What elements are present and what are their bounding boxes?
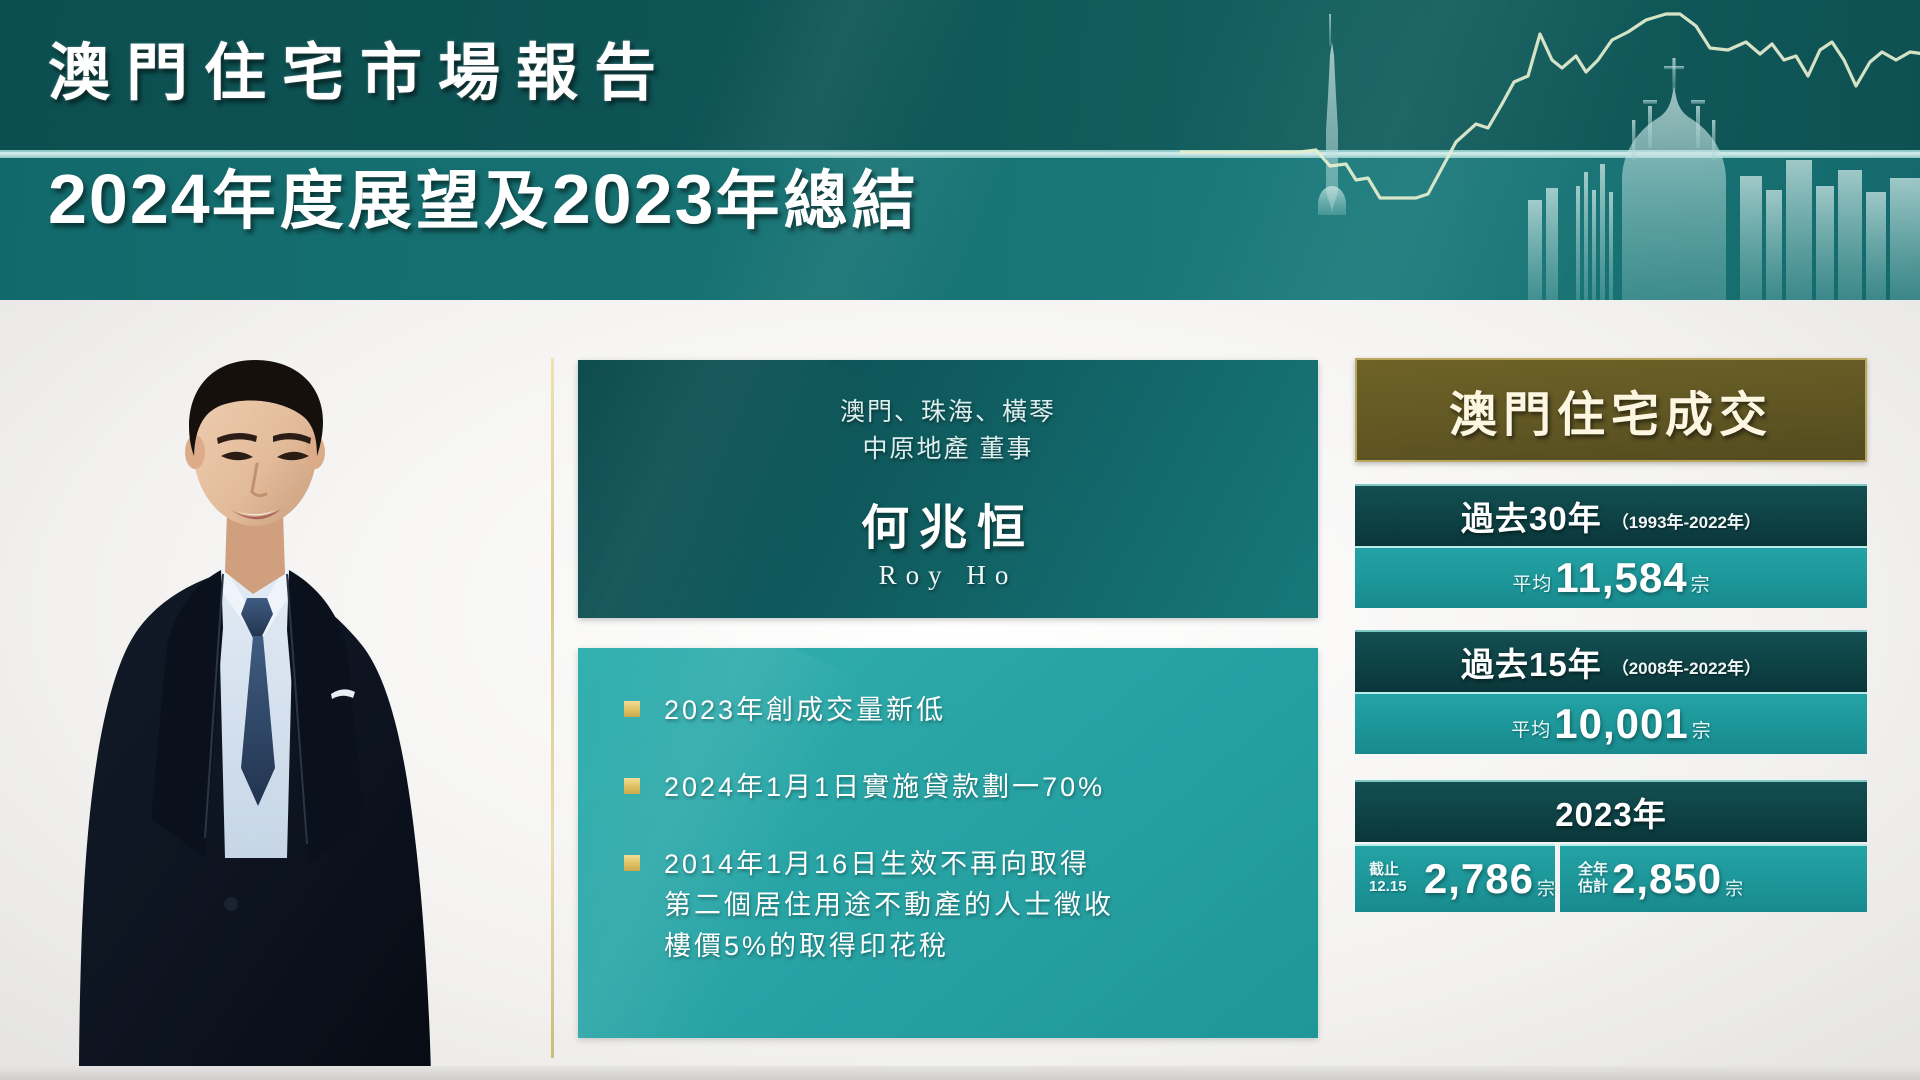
stat-block-30y-value: 平均 11,584 宗 xyxy=(1355,546,1867,608)
stage-bottom-edge xyxy=(0,1066,1920,1080)
header-banner: 澳門住宅市場報告 2024年度展望及2023年總結 xyxy=(0,0,1920,300)
stat-block-30y-header: 過去30年 （1993年-2022年） xyxy=(1355,484,1867,546)
stat-value: 11,584 xyxy=(1555,554,1687,602)
header-artwork xyxy=(1180,0,1920,300)
stats-panel-heading: 澳門住宅成交 xyxy=(1355,358,1867,462)
stat-caption: 全年 估計 xyxy=(1578,862,1608,896)
list-item: 2014年1月16日生效不再向取得 第二個居住用途不動產的人士徵收 樓價5%的取… xyxy=(624,844,1284,967)
list-item: 2024年1月1日實施貸款劃一70% xyxy=(624,767,1284,808)
stat-cell-full-year-estimate: 全年 估計 2,850 宗 xyxy=(1560,844,1867,912)
stat-block-2023-values: 截止12.15 2,786 宗 全年 估計 2,850 宗 xyxy=(1355,844,1867,912)
stat-value-prefix: 平均 xyxy=(1511,715,1551,742)
page-subtitle: 2024年度展望及2023年總結 xyxy=(48,150,919,242)
stats-panel-heading-text: 澳門住宅成交 xyxy=(1449,375,1773,445)
ruins-of-st-pauls-icon xyxy=(1622,58,1726,300)
stat-value: 2,786 xyxy=(1424,855,1534,903)
subtitle-year-2024: 2024 xyxy=(48,160,212,238)
avatar xyxy=(55,298,455,1080)
stat-block-15y-header: 過去15年 （2008年-2022年） xyxy=(1355,630,1867,692)
list-item-text: 2023年創成交量新低 xyxy=(664,690,946,731)
stat-range: （1993年-2022年） xyxy=(1612,508,1761,533)
stat-cell-ytd: 截止12.15 2,786 宗 xyxy=(1355,844,1555,912)
content-stage: 澳門、珠海、橫琴 中原地產 董事 何兆恒 Roy Ho 2023年創成交量新低 … xyxy=(0,300,1920,1080)
bullet-list-card: 2023年創成交量新低 2024年1月1日實施貸款劃一70% 2014年1月16… xyxy=(578,648,1318,1038)
stat-label: 過去30年 xyxy=(1461,492,1602,540)
stat-label: 2023年 xyxy=(1555,788,1666,836)
center-column: 澳門、珠海、橫琴 中原地產 董事 何兆恒 Roy Ho 2023年創成交量新低 … xyxy=(578,360,1318,1038)
stat-unit: 宗 xyxy=(1537,875,1555,901)
stat-range: （2008年-2022年） xyxy=(1612,654,1761,679)
list-item: 2023年創成交量新低 xyxy=(624,690,1284,731)
stat-caption: 截止12.15 xyxy=(1369,862,1420,896)
stat-unit: 宗 xyxy=(1692,716,1711,743)
square-bullet-icon xyxy=(624,778,640,794)
list-item-text: 2024年1月1日實施貸款劃一70% xyxy=(664,767,1105,808)
subtitle-mid-text: 年度展望及 xyxy=(212,165,552,237)
speaker-company-title: 中原地產 董事 xyxy=(578,431,1318,468)
stat-value: 2,850 xyxy=(1612,855,1722,903)
stat-unit: 宗 xyxy=(1691,570,1710,597)
stat-block-15y-value: 平均 10,001 宗 xyxy=(1355,692,1867,754)
stat-value-prefix: 平均 xyxy=(1512,569,1552,596)
vertical-gold-divider xyxy=(551,358,554,1058)
subtitle-tail-text: 年總結 xyxy=(715,165,919,237)
stat-label: 過去15年 xyxy=(1461,638,1602,686)
stat-block-30y: 過去30年 （1993年-2022年） 平均 11,584 宗 xyxy=(1355,484,1867,608)
speaker-name-zh: 何兆恒 xyxy=(578,488,1318,558)
square-bullet-icon xyxy=(624,855,640,871)
square-bullet-icon xyxy=(624,701,640,717)
speaker-name-en: Roy Ho xyxy=(578,560,1318,591)
list-item-text: 2014年1月16日生效不再向取得 第二個居住用途不動產的人士徵收 樓價5%的取… xyxy=(664,844,1114,967)
speaker-region: 澳門、珠海、橫琴 xyxy=(578,394,1318,431)
subtitle-year-2023: 2023 xyxy=(552,160,716,238)
page-title: 澳門住宅市場報告 xyxy=(48,22,672,112)
stats-panel: 澳門住宅成交 過去30年 （1993年-2022年） 平均 11,584 宗 過… xyxy=(1355,358,1867,912)
stat-value: 10,001 xyxy=(1554,700,1688,748)
stat-unit: 宗 xyxy=(1725,875,1743,901)
stat-block-2023-header: 2023年 xyxy=(1355,780,1867,842)
stat-block-15y: 過去15年 （2008年-2022年） 平均 10,001 宗 xyxy=(1355,630,1867,754)
speaker-card: 澳門、珠海、橫琴 中原地產 董事 何兆恒 Roy Ho xyxy=(578,360,1318,618)
